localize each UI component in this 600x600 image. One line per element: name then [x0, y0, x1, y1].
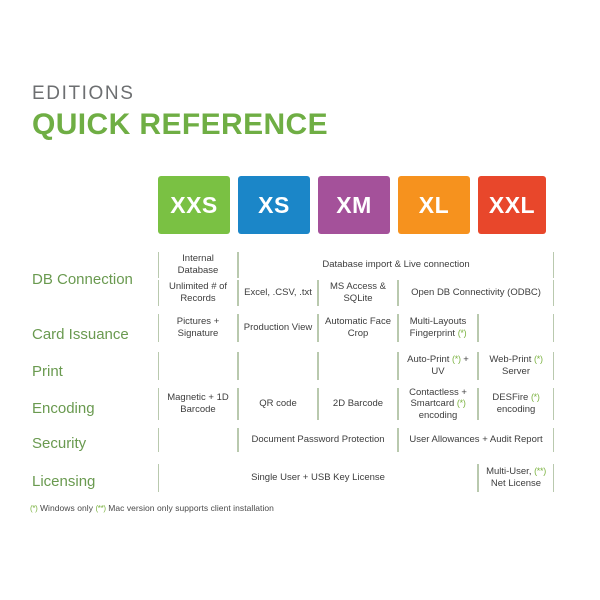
matrix-cell-label: Multi-Layouts Fingerprint (*) — [402, 316, 474, 339]
row-label-card-issuance: Card Issuance — [32, 326, 129, 343]
matrix-cell — [238, 352, 318, 380]
edition-badge-xs[interactable]: XS — [238, 176, 310, 234]
matrix-cell-label: Automatic Face Crop — [322, 316, 394, 339]
cell-text: encoding — [497, 404, 536, 415]
cell-text: Auto-Print — [407, 354, 452, 365]
matrix-cell: Automatic Face Crop — [318, 314, 398, 342]
matrix-cell — [158, 428, 238, 452]
matrix-cell: Excel, .CSV, .txt — [238, 280, 318, 306]
edition-badge-label: XXS — [170, 192, 218, 219]
matrix-cell: Open DB Connectivity (ODBC) — [398, 280, 554, 306]
quick-reference-page: EDITIONS QUICK REFERENCE XXSXSXMXLXXL DB… — [0, 0, 600, 600]
footnote-text-double: Mac version only supports client install… — [108, 503, 274, 513]
matrix-cell-label: Magnetic + 1D Barcode — [162, 392, 234, 415]
matrix-cell — [478, 314, 554, 342]
matrix-cell-label: User Allowances + Audit Report — [409, 434, 542, 446]
footnote-mark-double: (**) — [95, 504, 105, 513]
edition-badge-label: XXL — [489, 192, 535, 219]
matrix-cell-label: Unlimited # of Records — [162, 281, 234, 304]
page-title: QUICK REFERENCE — [32, 110, 328, 140]
row-label-print: Print — [32, 363, 63, 380]
cell-text: Single User + USB Key License — [251, 472, 385, 483]
matrix-cell-label: Auto-Print (*) + UV — [402, 354, 474, 377]
matrix-cell: MS Access & SQLite — [318, 280, 398, 306]
matrix-cell-label: Database import & Live connection — [322, 259, 469, 271]
matrix-cell: Pictures + Signature — [158, 314, 238, 342]
edition-badge-label: XL — [419, 192, 449, 219]
matrix-cell: Multi-User, (**) Net License — [478, 464, 554, 492]
windows-note-marker: (**) — [534, 466, 546, 476]
cell-text: Server — [502, 366, 530, 377]
matrix-cell-label: Internal Database — [162, 253, 234, 276]
matrix-cell-label: Multi-User, (**) Net License — [482, 466, 550, 489]
row-label-encoding: Encoding — [32, 400, 95, 417]
edition-badge-xxs[interactable]: XXS — [158, 176, 230, 234]
cell-text: Database import & Live connection — [322, 259, 469, 270]
feature-matrix: DB ConnectionInternal DatabaseDatabase i… — [24, 250, 576, 500]
cell-text: Magnetic + 1D Barcode — [167, 392, 229, 415]
matrix-cell: Unlimited # of Records — [158, 280, 238, 306]
matrix-cell: Web-Print (*) Server — [478, 352, 554, 380]
cell-text: Pictures + Signature — [177, 316, 220, 339]
cell-text: Open DB Connectivity (ODBC) — [411, 287, 541, 298]
cell-text: Internal Database — [178, 253, 219, 276]
matrix-cell-label: DESFire (*) encoding — [482, 392, 550, 415]
row-label-db-connection: DB Connection — [32, 271, 133, 288]
matrix-cell-label: Web-Print (*) Server — [482, 354, 550, 377]
cell-text: Automatic Face Crop — [325, 316, 391, 339]
edition-badge-xl[interactable]: XL — [398, 176, 470, 234]
edition-badge-label: XS — [258, 192, 290, 219]
windows-note-marker: (*) — [452, 354, 461, 364]
matrix-cell: Multi-Layouts Fingerprint (*) — [398, 314, 478, 342]
matrix-cell: User Allowances + Audit Report — [398, 428, 554, 452]
cell-text: MS Access & SQLite — [330, 281, 386, 304]
matrix-cell: Magnetic + 1D Barcode — [158, 388, 238, 420]
footnote: (*) Windows only (**) Mac version only s… — [30, 503, 274, 513]
windows-note-marker: (*) — [458, 328, 467, 338]
windows-note-marker: (*) — [531, 392, 540, 402]
windows-note-marker: (*) — [534, 354, 543, 364]
header-eyebrow: EDITIONS — [32, 84, 328, 103]
matrix-cell-label: Excel, .CSV, .txt — [244, 287, 312, 299]
edition-badge-xxl[interactable]: XXL — [478, 176, 546, 234]
matrix-cell: Internal Database — [158, 252, 238, 278]
matrix-cell: 2D Barcode — [318, 388, 398, 420]
matrix-cell-label: MS Access & SQLite — [322, 281, 394, 304]
edition-badge-label: XM — [336, 192, 372, 219]
matrix-cell-label: Open DB Connectivity (ODBC) — [411, 287, 541, 299]
windows-note-marker: (*) — [457, 398, 466, 408]
footnote-mark-single: (*) — [30, 504, 38, 513]
matrix-cell-label: QR code — [259, 398, 297, 410]
matrix-cell: DESFire (*) encoding — [478, 388, 554, 420]
matrix-cell: Contactless + Smartcard (*) encoding — [398, 388, 478, 420]
cell-text: Production View — [244, 322, 312, 333]
matrix-cell — [318, 352, 398, 380]
cell-text: Document Password Protection — [251, 434, 384, 445]
cell-text: encoding — [419, 410, 458, 421]
cell-text: 2D Barcode — [333, 398, 383, 409]
matrix-cell-label: Contactless + Smartcard (*) encoding — [402, 387, 474, 422]
cell-text: Unlimited # of Records — [169, 281, 227, 304]
matrix-cell-label: Pictures + Signature — [162, 316, 234, 339]
cell-text: Excel, .CSV, .txt — [244, 287, 312, 298]
cell-text: DESFire — [492, 392, 531, 403]
matrix-cell-label: Single User + USB Key License — [251, 472, 385, 484]
cell-text: Web-Print — [489, 354, 534, 365]
cell-text: QR code — [259, 398, 297, 409]
footnote-text-single: Windows only — [40, 503, 93, 513]
matrix-cell-label: Document Password Protection — [251, 434, 384, 446]
matrix-cell: Document Password Protection — [238, 428, 398, 452]
edition-badges: XXSXSXMXLXXL — [158, 176, 554, 234]
matrix-cell: Production View — [238, 314, 318, 342]
matrix-cell: Single User + USB Key License — [158, 464, 478, 492]
cell-text: Net License — [491, 478, 541, 489]
matrix-cell: Auto-Print (*) + UV — [398, 352, 478, 380]
cell-text: User Allowances + Audit Report — [409, 434, 542, 445]
edition-badge-xm[interactable]: XM — [318, 176, 390, 234]
row-label-security: Security — [32, 435, 86, 452]
matrix-cell: Database import & Live connection — [238, 252, 554, 278]
row-label-licensing: Licensing — [32, 473, 95, 490]
matrix-cell-label: 2D Barcode — [333, 398, 383, 410]
matrix-cell-label: Production View — [244, 322, 312, 334]
matrix-cell: QR code — [238, 388, 318, 420]
matrix-cell — [158, 352, 238, 380]
cell-text: Multi-User, — [486, 466, 534, 477]
page-header: EDITIONS QUICK REFERENCE — [32, 84, 328, 140]
